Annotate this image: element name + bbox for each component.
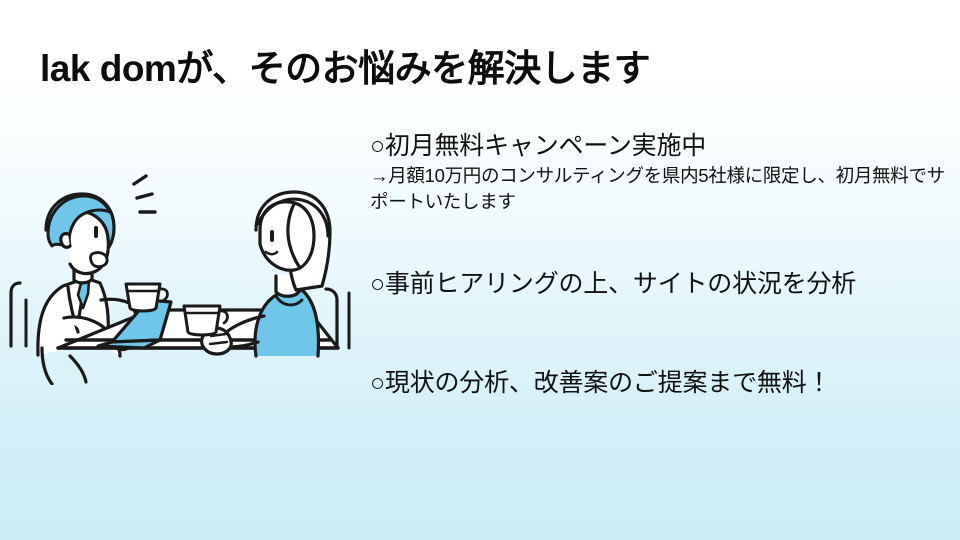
spacer-1 xyxy=(370,215,955,269)
slide-canvas: lak domが、そのお悩みを解決します xyxy=(0,0,960,540)
spacer-2 xyxy=(370,299,955,368)
speech-emphasis-lines-icon xyxy=(134,176,155,212)
bullet-heading-1: ○初月無料キャンペーン実施中 xyxy=(370,131,955,161)
page-title: lak domが、そのお悩みを解決します xyxy=(40,47,920,91)
open-mouth-icon xyxy=(91,253,108,267)
man-figure-icon xyxy=(38,176,156,384)
bullet-sub-1: →月額10万円のコンサルティングを県内5社様に限定し、初月無料でサポートいたしま… xyxy=(370,163,950,215)
woman-figure-icon xyxy=(202,192,330,356)
meeting-illustration xyxy=(8,150,358,385)
bullet-heading-3: ○現状の分析、改善案のご提案まで無料！ xyxy=(370,368,955,398)
body-text-block: ○初月無料キャンペーン実施中 →月額10万円のコンサルティングを県内5社様に限定… xyxy=(370,131,955,398)
bullet-heading-2: ○事前ヒアリングの上、サイトの状況を分析 xyxy=(370,269,955,299)
chair-left-icon xyxy=(11,283,26,346)
blue-shirt-icon xyxy=(255,290,318,356)
illustration-svg xyxy=(8,150,358,385)
